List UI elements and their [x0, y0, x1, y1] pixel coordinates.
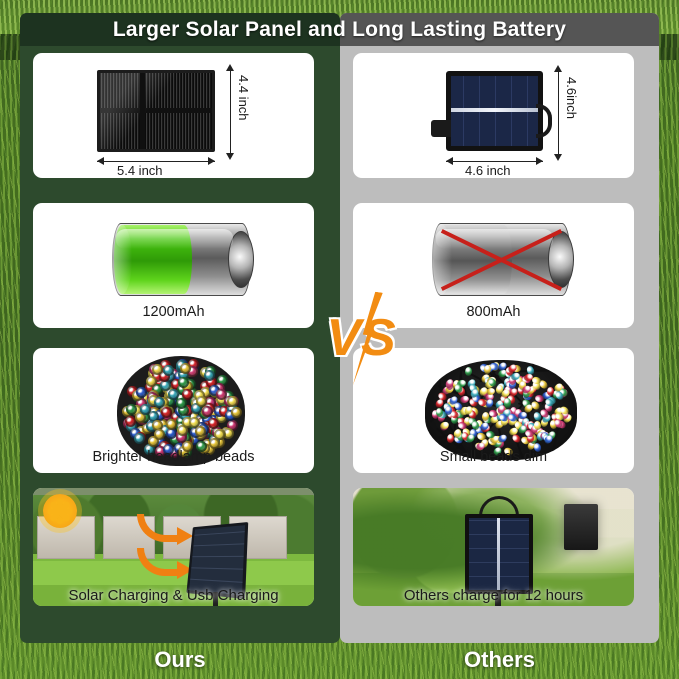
card-ours-beads: Brighter headlamp beads — [33, 348, 314, 473]
small-led-string-clump-icon — [425, 360, 577, 460]
charging-label-ours: Solar Charging & Usb Charging — [33, 587, 314, 604]
dimension-height-label: 4.6inch — [564, 77, 579, 119]
dimension-line-vertical — [230, 70, 231, 158]
led-bead — [152, 364, 163, 375]
led-bead — [126, 404, 137, 415]
dimension-arrow-up — [226, 64, 234, 71]
led-wire — [542, 360, 571, 365]
led-bead — [196, 396, 207, 407]
sunlight-arrow-icon — [137, 548, 179, 576]
comparison-board: 5.4 inch 4.4 inch 1200mAh — [20, 13, 659, 643]
dimension-arrow-left — [97, 157, 104, 165]
card-others-charging: Others charge for 12 hours — [353, 488, 634, 606]
panel-plug — [431, 120, 451, 137]
dimension-arrow-right — [208, 157, 215, 165]
card-ours-solar-panel: 5.4 inch 4.4 inch — [33, 53, 314, 178]
battery-capacity-label: 1200mAh — [33, 304, 314, 320]
sun-icon — [43, 494, 77, 528]
led-bead — [134, 433, 145, 444]
vs-badge: VS — [315, 295, 407, 381]
card-ours-battery: 1200mAh — [33, 203, 314, 328]
dimension-arrow-up — [554, 65, 562, 72]
panel-sheen — [100, 73, 212, 149]
solar-panel-stage-others: 4.6 inch 4.6inch — [353, 53, 634, 178]
header-band-others — [340, 13, 659, 46]
beads-label-others: Small beads dim — [353, 449, 634, 465]
led-bead — [176, 398, 187, 409]
dimension-height-label: 4.4 inch — [236, 75, 251, 121]
led-bead — [202, 406, 213, 417]
led-wire — [437, 369, 442, 392]
column-ours: 5.4 inch 4.4 inch 1200mAh — [20, 13, 340, 643]
led-bead — [204, 370, 215, 381]
black-solar-panel-icon — [97, 70, 215, 152]
led-bead — [231, 407, 242, 418]
dimension-line-horizontal — [97, 161, 215, 162]
led-bead — [154, 397, 165, 408]
led-bead — [154, 429, 165, 440]
dimension-width-label: 4.6 inch — [465, 163, 511, 178]
led-bead — [180, 363, 191, 374]
gray-battery-icon — [432, 223, 571, 296]
led-bead — [195, 426, 206, 437]
red-cross-out-icon — [426, 217, 577, 302]
led-bead — [140, 404, 151, 415]
blue-solar-panel-icon — [446, 71, 543, 151]
led-bead — [166, 419, 177, 430]
solar-panel-stage-ours: 5.4 inch 4.4 inch — [33, 53, 314, 178]
footer-label-others: Others — [340, 647, 659, 673]
footer-label-ours: Ours — [20, 647, 340, 673]
battery-gloss — [116, 229, 233, 249]
dimension-line-vertical — [558, 71, 559, 159]
led-bead — [216, 389, 227, 400]
card-others-solar-panel: 4.6 inch 4.6inch — [353, 53, 634, 178]
solar-panel-photo-object — [465, 514, 533, 594]
led-bead — [464, 367, 471, 376]
green-battery-icon — [112, 223, 251, 296]
dimension-arrow-right — [536, 157, 543, 165]
dimension-line-horizontal — [446, 161, 543, 162]
header-band-ours — [20, 13, 340, 46]
dimension-arrow-left — [446, 157, 453, 165]
beads-label-ours: Brighter headlamp beads — [33, 449, 314, 465]
charging-label-others: Others charge for 12 hours — [353, 587, 634, 604]
led-bead — [163, 365, 174, 376]
led-bead — [161, 407, 172, 418]
panel-handle — [536, 104, 552, 138]
dimension-arrow-down — [226, 153, 234, 160]
dimension-width-label: 5.4 inch — [117, 163, 163, 178]
house-window — [564, 504, 598, 550]
card-ours-charging: Solar Charging & Usb Charging — [33, 488, 314, 606]
led-bead — [511, 433, 522, 444]
dimension-arrow-down — [554, 154, 562, 161]
